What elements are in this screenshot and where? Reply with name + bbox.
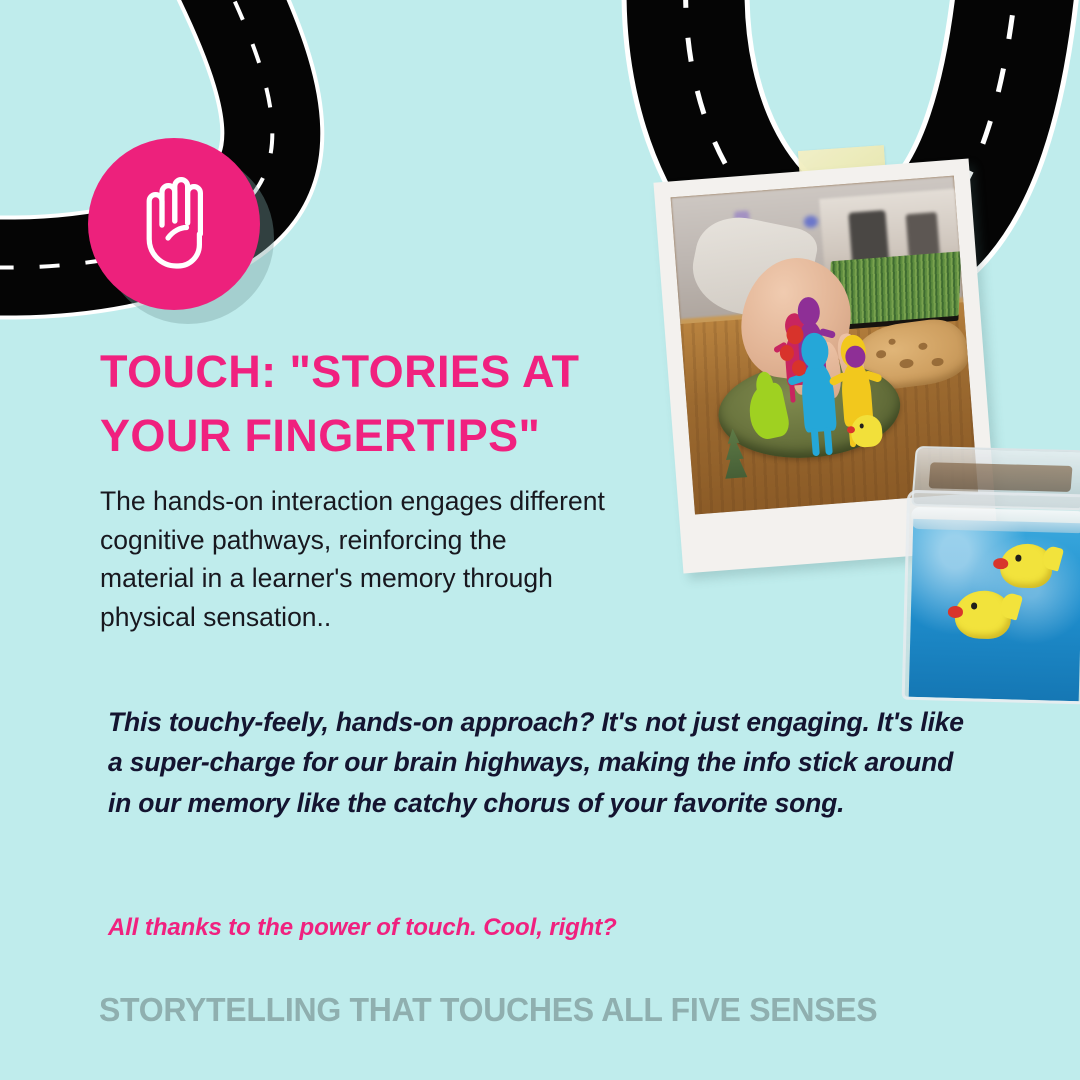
body-paragraph: The hands-on interaction engages differe… xyxy=(100,482,605,637)
rubber-duck-icon xyxy=(954,590,1011,639)
touch-badge xyxy=(88,138,260,310)
footer-tagline: STORYTELLING THAT TOUCHES ALL FIVE SENSE… xyxy=(99,990,972,1030)
open-hand-icon xyxy=(131,176,217,272)
poster-canvas: TOUCH: "STORIES AT YOUR FINGERTIPS" The … xyxy=(0,0,1080,1080)
page-title: TOUCH: "STORIES AT YOUR FINGERTIPS" xyxy=(100,340,640,468)
rubber-duck-icon xyxy=(1000,543,1053,588)
pitch-paragraph: This touchy-feely, hands-on approach? It… xyxy=(108,702,983,823)
container-body xyxy=(902,490,1080,705)
slime-container xyxy=(902,446,1080,699)
kicker-line: All thanks to the power of touch. Cool, … xyxy=(108,912,868,943)
